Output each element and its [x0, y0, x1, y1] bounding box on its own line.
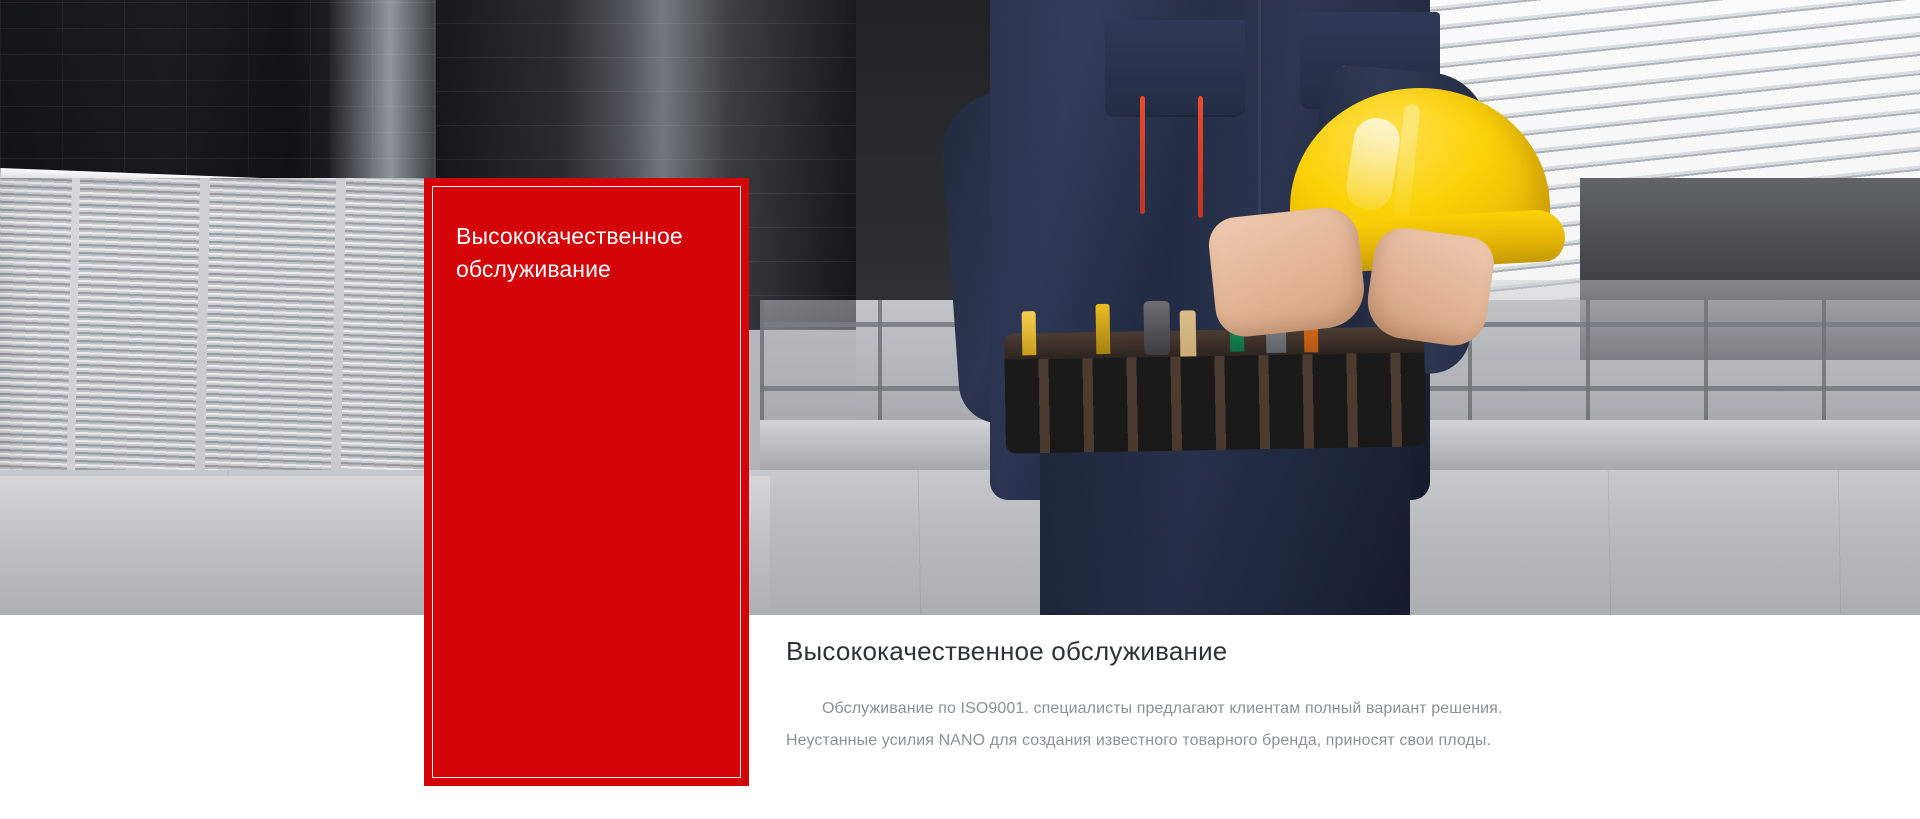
uniform-red-piping-2 [1198, 96, 1203, 218]
tool-screwdriver-yellow [1095, 304, 1110, 354]
content-paragraph: Обслуживание по ISO9001. специалисты пре… [786, 693, 1786, 757]
paragraph-line-2: Неустанные усилия NANO для создания изве… [786, 725, 1786, 757]
callout-title: Высококачественное обслуживание [456, 220, 723, 285]
tool-level [1022, 311, 1037, 355]
tool-hammer-head [1143, 301, 1170, 355]
worker-legs [1040, 430, 1410, 615]
page-root: Высококачественное обслуживание Высокока… [0, 0, 1920, 819]
worker-hand-right [1363, 224, 1497, 350]
red-callout-panel: Высококачественное обслуживание [424, 178, 749, 786]
worker-chest-pocket-left [1105, 20, 1245, 115]
content-block: Высококачественное обслуживание Обслужив… [786, 636, 1786, 757]
background-column-1 [330, 0, 450, 185]
worker-figure [950, 0, 1510, 615]
hero-banner-image [0, 0, 1920, 615]
content-heading: Высококачественное обслуживание [786, 636, 1786, 667]
tool-belt [1004, 326, 1426, 453]
worker-hand-left [1206, 204, 1368, 339]
tool-hammer-handle [1180, 310, 1198, 430]
uniform-red-piping-1 [1140, 96, 1145, 214]
paragraph-line-1: Обслуживание по ISO9001. специалисты пре… [822, 700, 1503, 717]
